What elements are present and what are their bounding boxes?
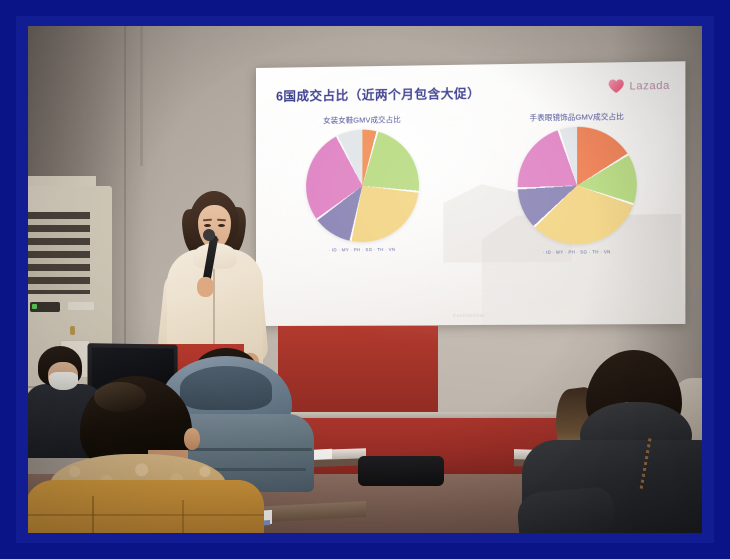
presenter-eye-left [204, 224, 211, 227]
ac-brand-label [68, 302, 94, 310]
lazada-logo: Lazada [608, 78, 670, 94]
wall-seam-secondary [140, 26, 143, 166]
pie-left-wrap [306, 129, 419, 243]
audience-tan-seam-left [92, 496, 94, 533]
pie-left-legend: · ID · MY · PH · SG · TH · VN [328, 247, 395, 253]
lazada-wordmark: Lazada [629, 79, 669, 92]
slide-title: 6国成交占比（近两个月包含大促） [276, 83, 480, 105]
pie-chart-right [517, 126, 636, 245]
heart-icon [608, 78, 624, 93]
chair-center [358, 456, 444, 486]
audience-tan-stitch-line [28, 514, 264, 516]
ac-power-led [32, 304, 37, 309]
ac-vent-louvers [28, 212, 90, 294]
image-frame: 6国成交占比（近两个月包含大促） [0, 0, 730, 559]
audience-member-dark-jacket [528, 354, 702, 533]
confidential-watermark: Confidential [256, 312, 685, 319]
ac-door-knob [70, 326, 75, 335]
chart-right-title: 手表眼镜饰品GMV成交占比 [529, 111, 624, 123]
wall-seam [124, 26, 126, 356]
pie-chart-left [306, 129, 419, 243]
pie-right-legend: · ID · MY · PH · SG · TH · VN [543, 249, 611, 255]
chart-right: 手表眼镜饰品GMV成交占比 · ID · MY · PH · SG · TH ·… [469, 110, 686, 305]
audience-tan-seam-right [182, 500, 184, 533]
charts-container: 女装女鞋GMV成交占比 · ID · MY · PH · SG · TH · V… [256, 110, 685, 306]
audience-tan-ear [184, 428, 200, 450]
projection-screen: 6国成交占比（近两个月包含大促） [256, 61, 685, 326]
presenter-hand-holding-mic [197, 277, 214, 297]
presenter-eye-right [218, 224, 225, 227]
chart-left-title: 女装女鞋GMV成交占比 [323, 114, 401, 126]
photograph: 6国成交占比（近两个月包含大促） [28, 26, 702, 533]
pie-right-wrap [517, 126, 636, 245]
audience-member-tan-jacket [32, 376, 262, 533]
chart-left: 女装女鞋GMV成交占比 · ID · MY · PH · SG · TH · V… [256, 113, 469, 306]
presentation-slide: 6国成交占比（近两个月包含大促） [256, 61, 685, 326]
audience-tan-jacket-body [28, 480, 264, 533]
audience-tan-hair-highlight [94, 382, 146, 412]
